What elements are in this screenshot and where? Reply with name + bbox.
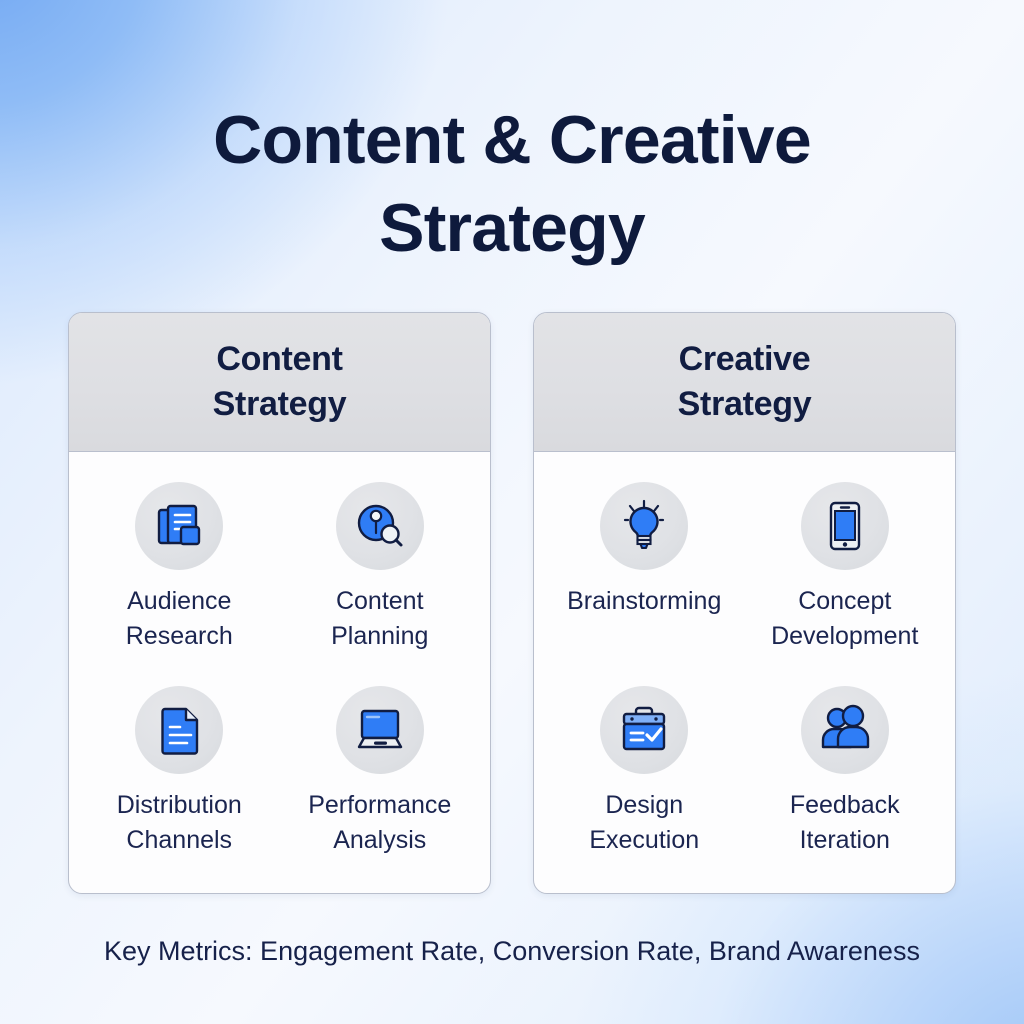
laptop-icon bbox=[336, 686, 424, 774]
item-label: Design Execution bbox=[589, 788, 699, 858]
card-header-label: Creative Strategy bbox=[678, 337, 812, 427]
documents-icon bbox=[135, 482, 223, 570]
item-performance-analysis[interactable]: Performance Analysis bbox=[280, 672, 481, 876]
smartphone-icon bbox=[801, 482, 889, 570]
item-label: Distribution Channels bbox=[117, 788, 242, 858]
item-feedback-iteration[interactable]: Feedback Iteration bbox=[745, 672, 946, 876]
item-distribution-channels[interactable]: Distribution Channels bbox=[79, 672, 280, 876]
people-group-icon bbox=[801, 686, 889, 774]
item-design-execution[interactable]: Design Execution bbox=[544, 672, 745, 876]
item-label: Feedback Iteration bbox=[790, 788, 900, 858]
item-label: Performance Analysis bbox=[308, 788, 451, 858]
item-audience-research[interactable]: Audience Research bbox=[79, 468, 280, 672]
card-creative-strategy[interactable]: Creative Strategy bbox=[533, 312, 956, 894]
item-label: Content Planning bbox=[331, 584, 428, 654]
card-body-creative-strategy: Brainstorming Concept Development bbox=[534, 452, 955, 893]
infographic-canvas: Content & Creative Strategy Content Stra… bbox=[0, 0, 1024, 1024]
item-label: Concept Development bbox=[771, 584, 918, 654]
page-title: Content & Creative Strategy bbox=[62, 96, 962, 272]
card-header-label: Content Strategy bbox=[213, 337, 347, 427]
pie-chart-search-icon bbox=[336, 482, 424, 570]
toolbox-check-icon bbox=[600, 686, 688, 774]
item-label: Brainstorming bbox=[567, 584, 721, 619]
item-concept-development[interactable]: Concept Development bbox=[745, 468, 946, 672]
card-group: Content Strategy Audience Re bbox=[68, 312, 956, 894]
item-brainstorming[interactable]: Brainstorming bbox=[544, 468, 745, 672]
item-label: Audience Research bbox=[126, 584, 233, 654]
lightbulb-icon bbox=[600, 482, 688, 570]
key-metrics-footer: Key Metrics: Engagement Rate, Conversion… bbox=[92, 930, 932, 972]
card-header-creative-strategy: Creative Strategy bbox=[534, 313, 955, 452]
card-content-strategy[interactable]: Content Strategy Audience Re bbox=[68, 312, 491, 894]
document-page-icon bbox=[135, 686, 223, 774]
item-content-planning[interactable]: Content Planning bbox=[280, 468, 481, 672]
card-header-content-strategy: Content Strategy bbox=[69, 313, 490, 452]
card-body-content-strategy: Audience Research Content Planning bbox=[69, 452, 490, 893]
